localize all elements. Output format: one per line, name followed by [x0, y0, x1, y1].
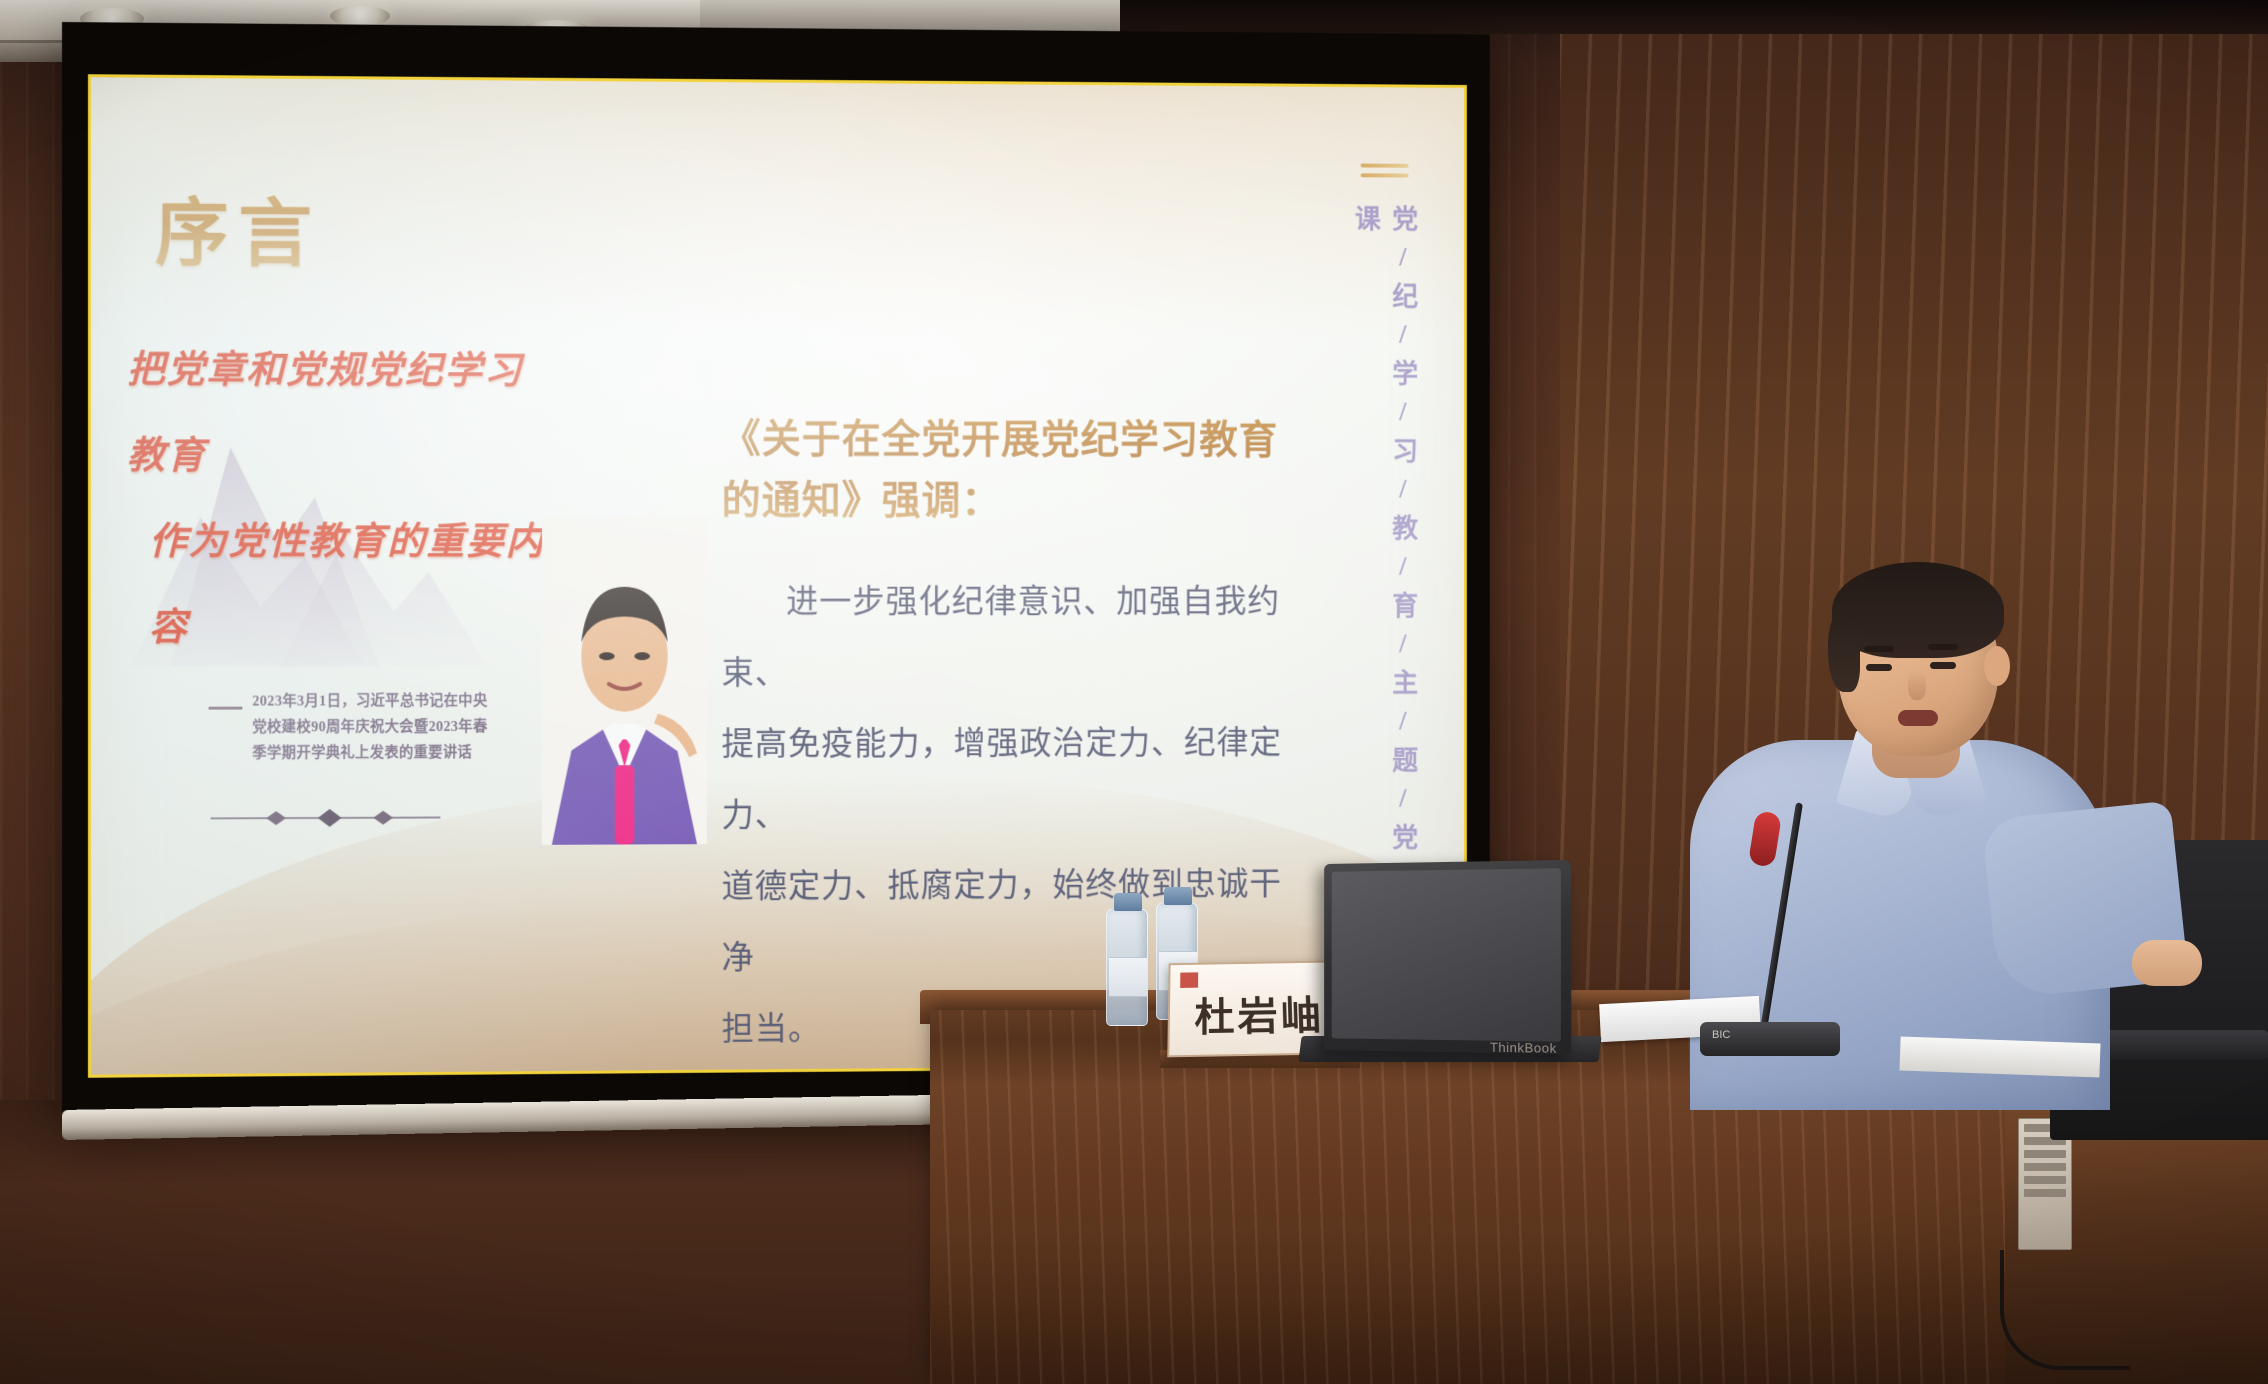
speaker-hand	[2132, 940, 2202, 986]
speaker-brow-right	[1928, 644, 1958, 650]
attribution-line-1: 2023年3月1日，习近平总书记在中央	[252, 688, 517, 714]
laptop-screen	[1332, 868, 1561, 1041]
sidebar-vertical-text: 党/纪/学/习/教/育/主/题/党/课	[1368, 205, 1422, 930]
sidebar-marker-icon	[1361, 164, 1409, 180]
speaker-hair-side	[1828, 612, 1860, 692]
speaker-brow-left	[1864, 646, 1894, 652]
bottle-label	[1109, 957, 1147, 997]
bottle-cap	[1164, 887, 1192, 905]
power-cable	[2000, 1250, 2130, 1370]
desk-documents-secondary[interactable]	[1899, 1037, 2100, 1078]
nameplate-name: 杜岩岫	[1194, 984, 1325, 1043]
ornament-divider-icon	[211, 806, 441, 831]
ceiling-light-icon	[330, 6, 390, 26]
projection-screen: 序言 把党章和党规党纪学习教育 作为党性教育的重要内容	[62, 22, 1490, 1112]
attribution-line-3: 季学期开学典礼上发表的重要讲话	[252, 740, 517, 767]
attribution-line-2: 党校建校90周年庆祝大会暨2023年春	[252, 714, 517, 741]
attribution-block: 2023年3月1日，习近平总书记在中央 党校建校90周年庆祝大会暨2023年春 …	[252, 688, 517, 766]
attribution-dash	[209, 707, 243, 710]
slide-body-line-1: 进一步强化纪律意识、加强自我约束、	[722, 567, 1304, 709]
bottle-cap	[1114, 893, 1142, 911]
portrait-photo	[542, 517, 707, 844]
nameplate-logo-icon	[1180, 971, 1249, 988]
speaker-eye-right	[1930, 662, 1956, 669]
slide-title: 序言	[155, 174, 322, 282]
calligraphy-block: 把党章和党规党纪学习教育 作为党性教育的重要内容	[127, 327, 553, 671]
water-bottle-icon[interactable]	[1106, 908, 1148, 1026]
speaker-ear	[1984, 646, 2010, 686]
speaker-nose	[1908, 670, 1926, 700]
slide-heading-line-1: 《关于在全党开展党纪学习教育	[722, 409, 1332, 471]
slide-heading-line-2: 的通知》强调：	[722, 470, 1332, 532]
laptop-icon[interactable]: ThinkBook	[1324, 860, 1571, 1054]
lecture-hall-scene: 序言 把党章和党规党纪学习教育 作为党性教育的重要内容	[0, 0, 2268, 1384]
speaker-mouth	[1898, 710, 1938, 726]
slide-body-line-2: 提高免疫能力，增强政治定力、纪律定力、	[722, 708, 1304, 852]
microphone-base[interactable]: BIC	[1700, 1022, 1840, 1056]
slide-heading: 《关于在全党开展党纪学习教育 的通知》强调：	[722, 409, 1332, 532]
microphone-base-label: BIC	[1712, 1029, 1730, 1041]
calligraphy-line-1: 把党章和党规党纪学习教育	[127, 327, 553, 499]
calligraphy-line-2: 作为党性教育的重要内容	[149, 499, 553, 671]
speaker-eye-left	[1866, 664, 1892, 671]
laptop-brand-label: ThinkBook	[1490, 1040, 1557, 1056]
presentation-slide: 序言 把党章和党规党纪学习教育 作为党性教育的重要内容	[88, 74, 1467, 1078]
